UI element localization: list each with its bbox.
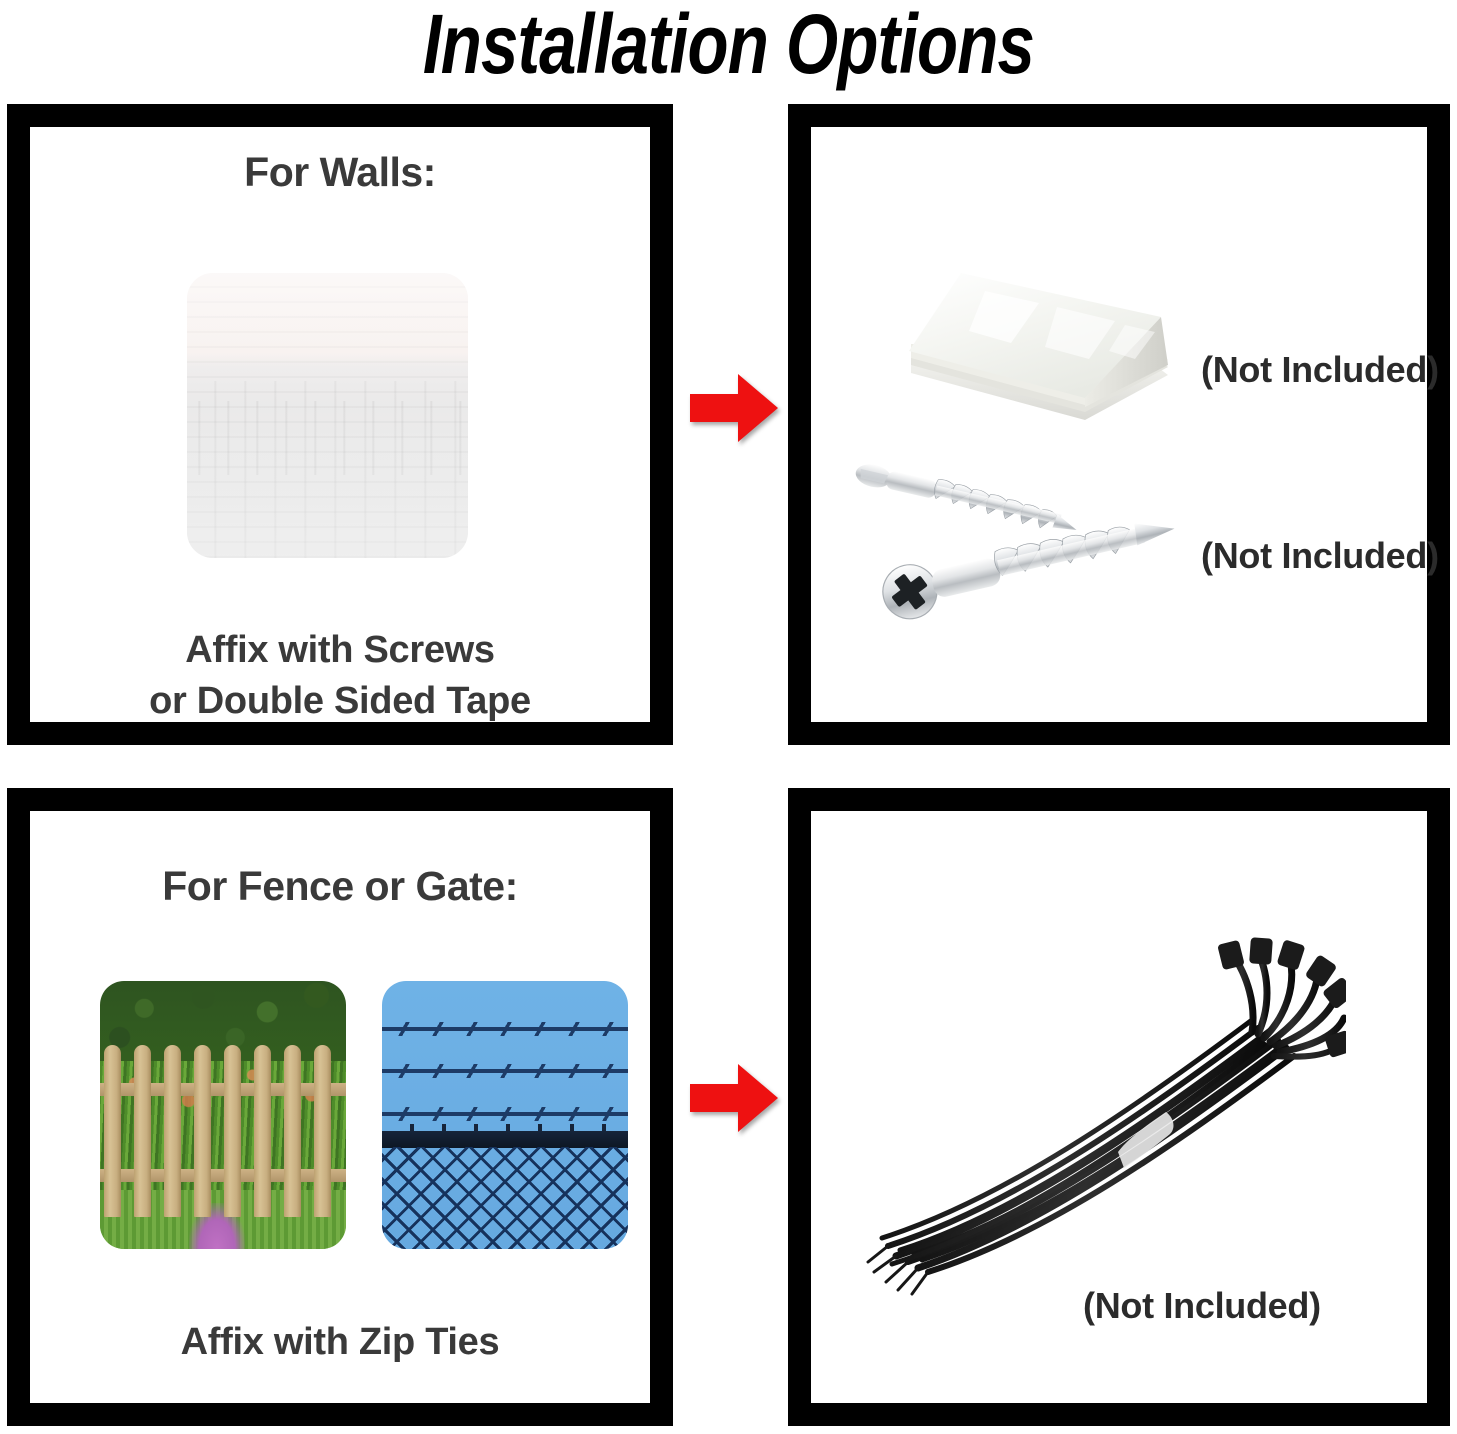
page-title: Installation Options — [146, 0, 1312, 93]
fence-top-rail — [382, 1131, 628, 1148]
panel-fence-caption: Affix with Zip Ties — [30, 1317, 650, 1368]
wooden-picket-fence-photo — [100, 981, 346, 1249]
wood-screws-image — [851, 452, 1191, 637]
barbed-wire-strand — [382, 1112, 628, 1116]
panel-zip-ties: (Not Included) — [788, 788, 1450, 1426]
screw-lower — [878, 504, 1181, 624]
screw-upper — [853, 460, 1081, 536]
panel-hardware: (Not Included) — [788, 104, 1450, 745]
installation-options-infographic: Installation Options For Walls: Affix wi… — [0, 0, 1457, 1434]
barbed-wire-strand — [382, 1027, 628, 1031]
right-arrow-icon — [688, 1062, 780, 1134]
chain-link-barbed-wire-photo — [382, 981, 628, 1249]
screws-not-included-label: (Not Included) — [1201, 535, 1439, 577]
panel-for-walls: For Walls: Affix with Screws or Double S… — [7, 104, 673, 745]
white-brick-wall-photo — [187, 273, 468, 558]
chain-link-mesh — [382, 1147, 628, 1249]
tape-not-included-label: (Not Included) — [1201, 349, 1439, 391]
panel-walls-heading: For Walls: — [30, 149, 650, 196]
caption-line-2: or Double Sided Tape — [30, 676, 650, 727]
caption-line-1: Affix with Screws — [30, 625, 650, 676]
zip-tie-strands — [882, 1020, 1294, 1272]
zipties-not-included-label: (Not Included) — [1083, 1285, 1321, 1327]
right-arrow-icon — [688, 372, 780, 444]
photo-sheen-overlay — [187, 273, 468, 558]
panel-walls-caption: Affix with Screws or Double Sided Tape — [30, 625, 650, 728]
barbed-wire-strand — [382, 1069, 628, 1073]
panel-fence-heading: For Fence or Gate: — [30, 863, 650, 910]
panel-for-fence-or-gate: For Fence or Gate: — [7, 788, 673, 1426]
fence-pickets — [100, 1045, 346, 1217]
zip-tie-bundle-image — [866, 916, 1346, 1296]
double-sided-tape-stack-image — [889, 255, 1194, 440]
